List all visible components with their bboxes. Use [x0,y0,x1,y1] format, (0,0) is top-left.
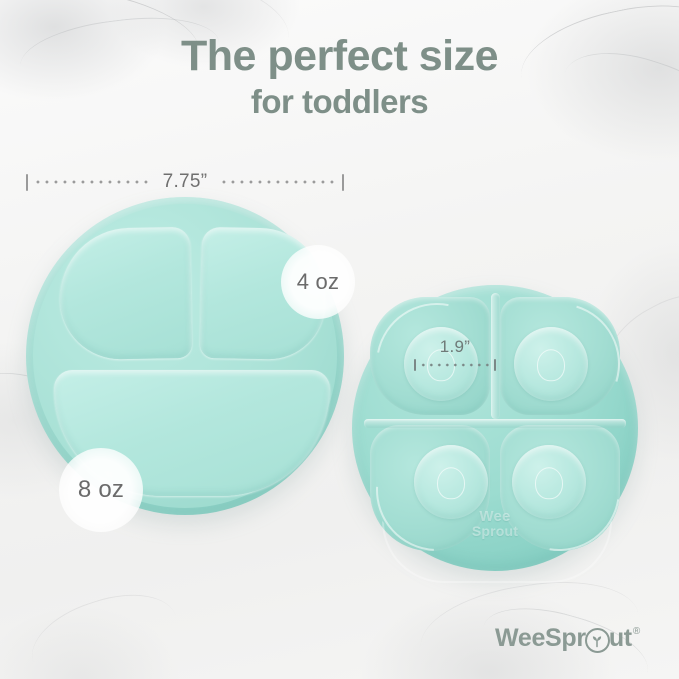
embossed-brand-line-2: Sprout [472,524,518,538]
suction-cup-top-right [514,327,588,401]
capacity-badge-4oz: 4 oz [281,245,355,319]
dimension-end-cap-right [342,174,344,191]
brand-name-part-2: ut [609,624,632,653]
suction-cup-bottom-right [512,445,586,519]
capacity-badge-8oz-label: 8 oz [78,476,124,504]
suction-dimension-end-cap-left [414,359,416,371]
compartment-top-left [59,227,192,360]
brand-logo: WeeSpr ut ® [495,624,640,653]
suction-dimension-end-cap-right [494,359,496,371]
dimension-leader-right [218,176,338,188]
capacity-badge-8oz: 8 oz [59,448,143,532]
brand-name-part-1: WeeSpr [495,624,586,653]
capacity-badge-4oz-label: 4 oz [297,269,339,295]
plate-width-label: 7.75” [156,171,215,193]
suction-dimension-leader [418,359,493,371]
dimension-leader-left [32,176,152,188]
plate-underside: Wee Sprout [352,285,638,571]
headline-line-2: for toddlers [0,85,679,120]
product-marketing-image: The perfect size for toddlers 7.75” [0,0,679,679]
dimension-end-cap-left [26,174,28,191]
registered-trademark-symbol: ® [633,626,640,637]
suction-cup-width-label: 1.9” [414,337,496,357]
page-title: The perfect size for toddlers [0,34,679,120]
suction-cup-bottom-left [414,445,488,519]
underside-channel-horizontal [364,419,626,428]
suction-cup-dimension: 1.9” [414,337,496,371]
plate-width-dimension: 7.75” [26,170,344,194]
embossed-brand-mark: Wee Sprout [472,509,518,539]
sprout-icon [585,628,610,653]
headline-line-1: The perfect size [0,34,679,80]
